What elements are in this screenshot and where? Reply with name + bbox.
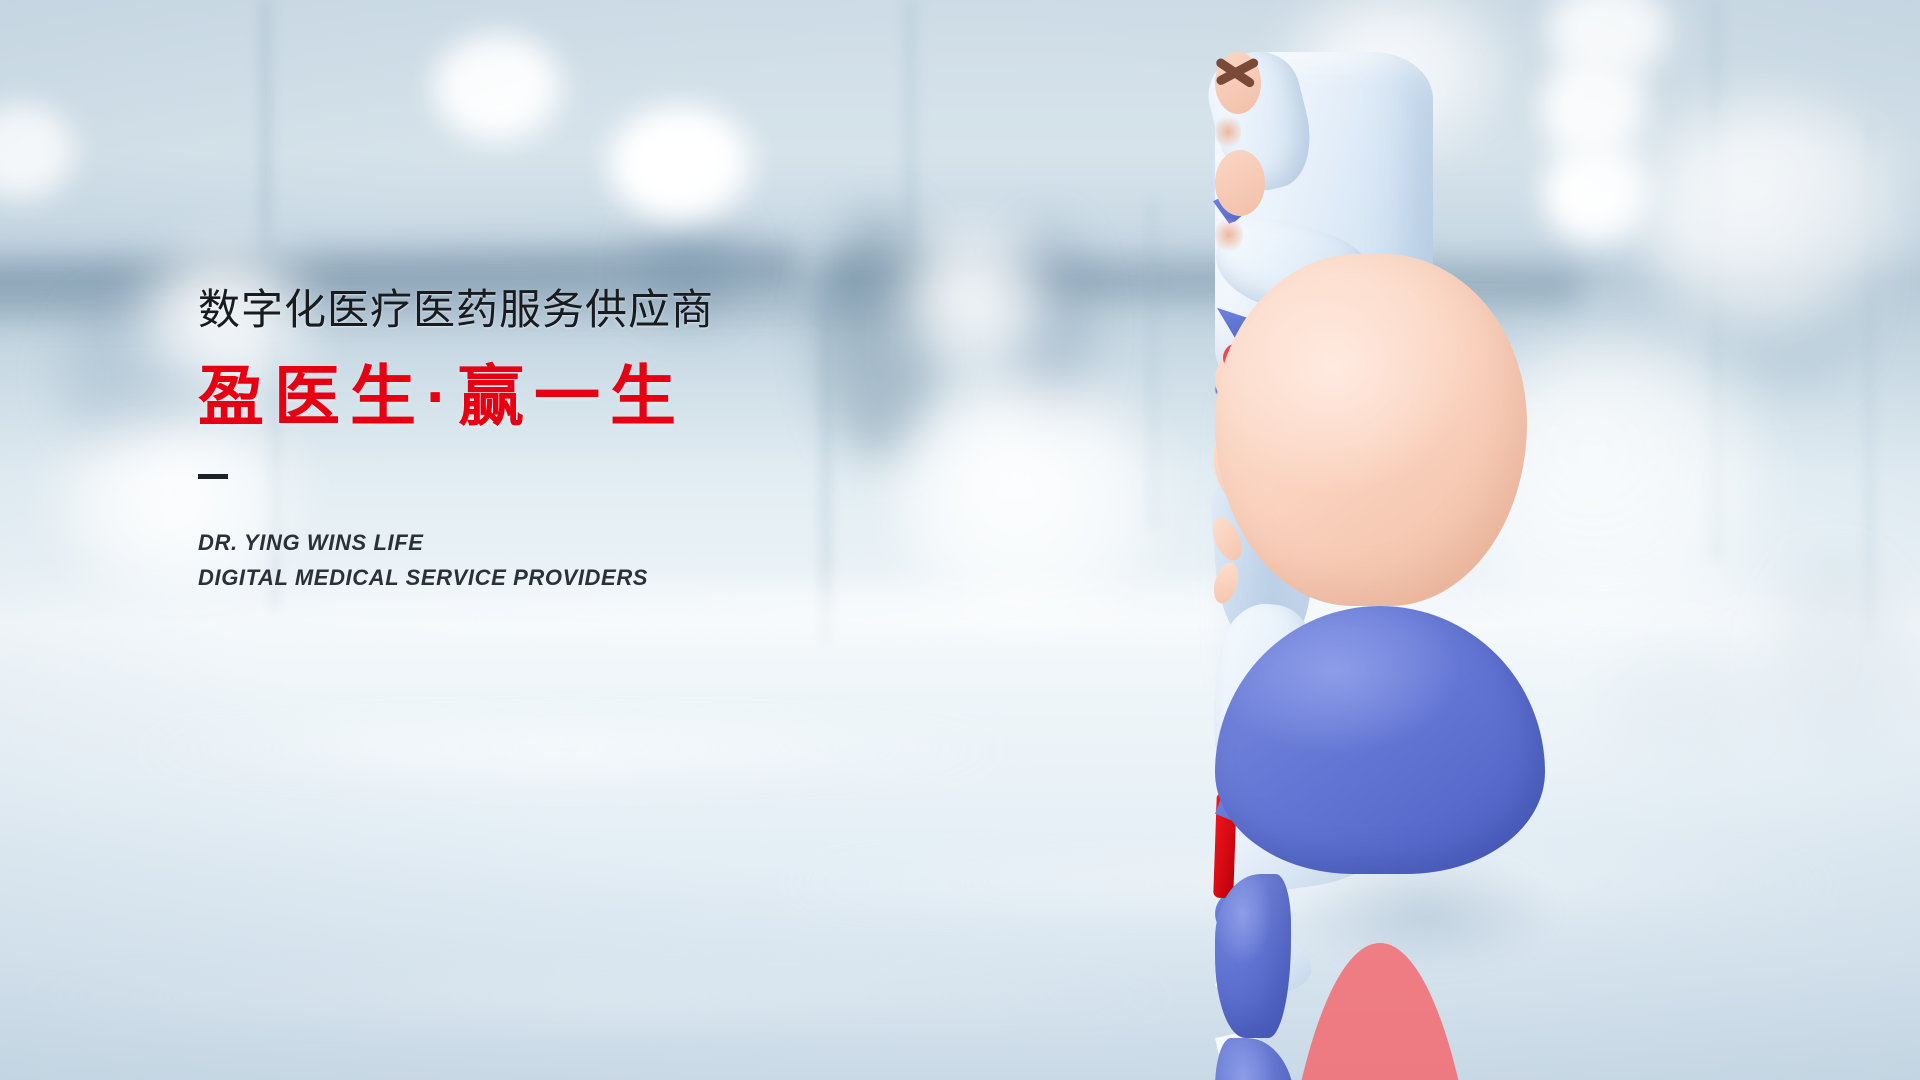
hero-subtitle-en: DR. YING WINS LIFE DIGITAL MEDICAL SERVI… xyxy=(198,525,958,596)
page-title: 盈医生·赢一生 xyxy=(198,361,958,432)
hero-banner: 数字化医疗医药服务供应商 盈医生·赢一生 DR. YING WINS LIFE … xyxy=(0,0,1920,1080)
page-subtitle-cn: 数字化医疗医药服务供应商 xyxy=(198,288,958,333)
head xyxy=(1215,52,1545,1080)
title-divider xyxy=(198,474,228,479)
subtitle-line-2: DIGITAL MEDICAL SERVICE PROVIDERS xyxy=(198,560,958,596)
hero-copy: 数字化医疗医药服务供应商 盈医生·赢一生 DR. YING WINS LIFE … xyxy=(198,288,958,596)
hair xyxy=(1215,606,1545,874)
face xyxy=(1215,254,1527,606)
subtitle-line-1: DR. YING WINS LIFE xyxy=(198,525,958,561)
doctor-mascot-illustration xyxy=(1215,52,1615,1052)
